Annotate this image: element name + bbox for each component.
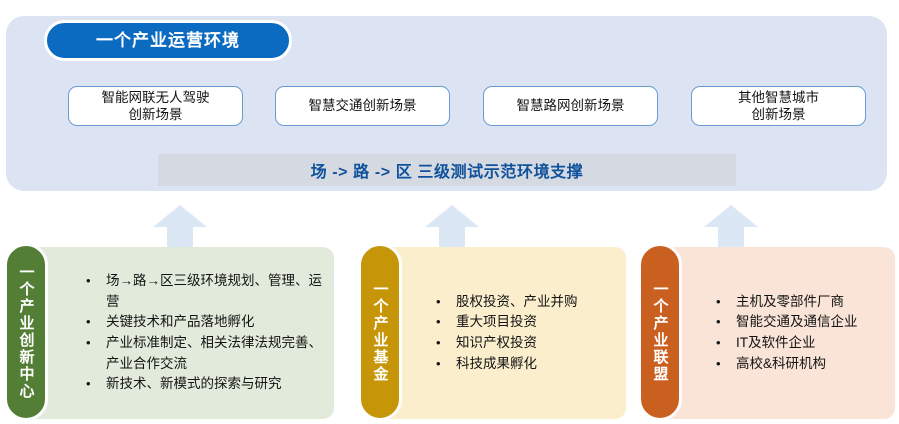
list-item: 科技成果孵化 [428, 354, 618, 375]
pillar-item-list: 主机及零部件厂商 智能交通及通信企业 IT及软件企业 高校&科研机构 [708, 247, 887, 419]
pillar-industry-innovation-center: 场→路→区三级环境规划、管理、运营 关键技术和产品落地孵化 产业标准制定、相关法… [4, 247, 334, 419]
list-item: 股权投资、产业并购 [428, 292, 618, 313]
scenario-box-smart-road-network[interactable]: 智慧路网创新场景 [483, 86, 658, 126]
list-item: 高校&科研机构 [708, 354, 887, 375]
pillar-tab-label: 一个产业基金 [373, 281, 388, 383]
three-level-support-label: 场 -> 路 -> 区 三级测试示范环境支撑 [311, 158, 584, 182]
scenario-box-smart-transport[interactable]: 智慧交通创新场景 [275, 86, 450, 126]
three-level-support-band: 场 -> 路 -> 区 三级测试示范环境支撑 [158, 154, 736, 186]
list-item: 场→路→区三级环境规划、管理、运营 [78, 271, 328, 312]
scenario-box-intelligent-connected-driving[interactable]: 智能网联无人驾驶创新场景 [68, 86, 243, 126]
up-arrow-icon [152, 203, 208, 251]
list-item: 关键技术和产品落地孵化 [78, 312, 328, 333]
pillar-industry-fund: 股权投资、产业并购 重大项目投资 知识产权投资 科技成果孵化 一个产业基金 [358, 247, 626, 419]
pillar-body: 场→路→区三级环境规划、管理、运营 关键技术和产品落地孵化 产业标准制定、相关法… [26, 247, 334, 419]
pillar-item-list: 股权投资、产业并购 重大项目投资 知识产权投资 科技成果孵化 [428, 247, 618, 419]
pillar-body: 主机及零部件厂商 智能交通及通信企业 IT及软件企业 高校&科研机构 [660, 247, 895, 419]
list-item: 新技术、新模式的探索与研究 [78, 374, 328, 395]
pillar-tab-industry-innovation-center[interactable]: 一个产业创新中心 [4, 243, 48, 421]
pillar-tab-industry-alliance[interactable]: 一个产业联盟 [638, 243, 682, 421]
list-item: 智能交通及通信企业 [708, 312, 887, 333]
pillar-tab-label: 一个产业创新中心 [19, 264, 34, 400]
list-item: 产业标准制定、相关法律法规完善、产业合作交流 [78, 333, 328, 374]
up-arrow-icon [703, 203, 759, 251]
list-item: 主机及零部件厂商 [708, 292, 887, 313]
scenario-label: 智慧路网创新场景 [517, 97, 625, 114]
list-item: 知识产权投资 [428, 333, 618, 354]
diagram-canvas: 一个产业运营环境 智能网联无人驾驶创新场景 智慧交通创新场景 智慧路网创新场景 … [0, 0, 899, 424]
list-item: 重大项目投资 [428, 312, 618, 333]
pillar-tab-industry-fund[interactable]: 一个产业基金 [358, 243, 402, 421]
pillar-item-list: 场→路→区三级环境规划、管理、运营 关键技术和产品落地孵化 产业标准制定、相关法… [78, 247, 328, 419]
pillar-tab-label: 一个产业联盟 [653, 281, 668, 383]
pillar-industry-alliance: 主机及零部件厂商 智能交通及通信企业 IT及软件企业 高校&科研机构 一个产业联… [638, 247, 895, 419]
list-item: IT及软件企业 [708, 333, 887, 354]
operating-environment-title: 一个产业运营环境 [96, 32, 240, 49]
scenario-label: 其他智慧城市创新场景 [738, 89, 819, 124]
scenario-label: 智能网联无人驾驶创新场景 [102, 89, 210, 124]
up-arrow-icon [424, 203, 480, 251]
operating-environment-panel: 一个产业运营环境 智能网联无人驾驶创新场景 智慧交通创新场景 智慧路网创新场景 … [6, 16, 887, 191]
operating-environment-title-pill: 一个产业运营环境 [44, 20, 292, 61]
scenario-label: 智慧交通创新场景 [309, 97, 417, 114]
scenario-box-other-smart-city[interactable]: 其他智慧城市创新场景 [691, 86, 866, 126]
pillar-body: 股权投资、产业并购 重大项目投资 知识产权投资 科技成果孵化 [380, 247, 626, 419]
